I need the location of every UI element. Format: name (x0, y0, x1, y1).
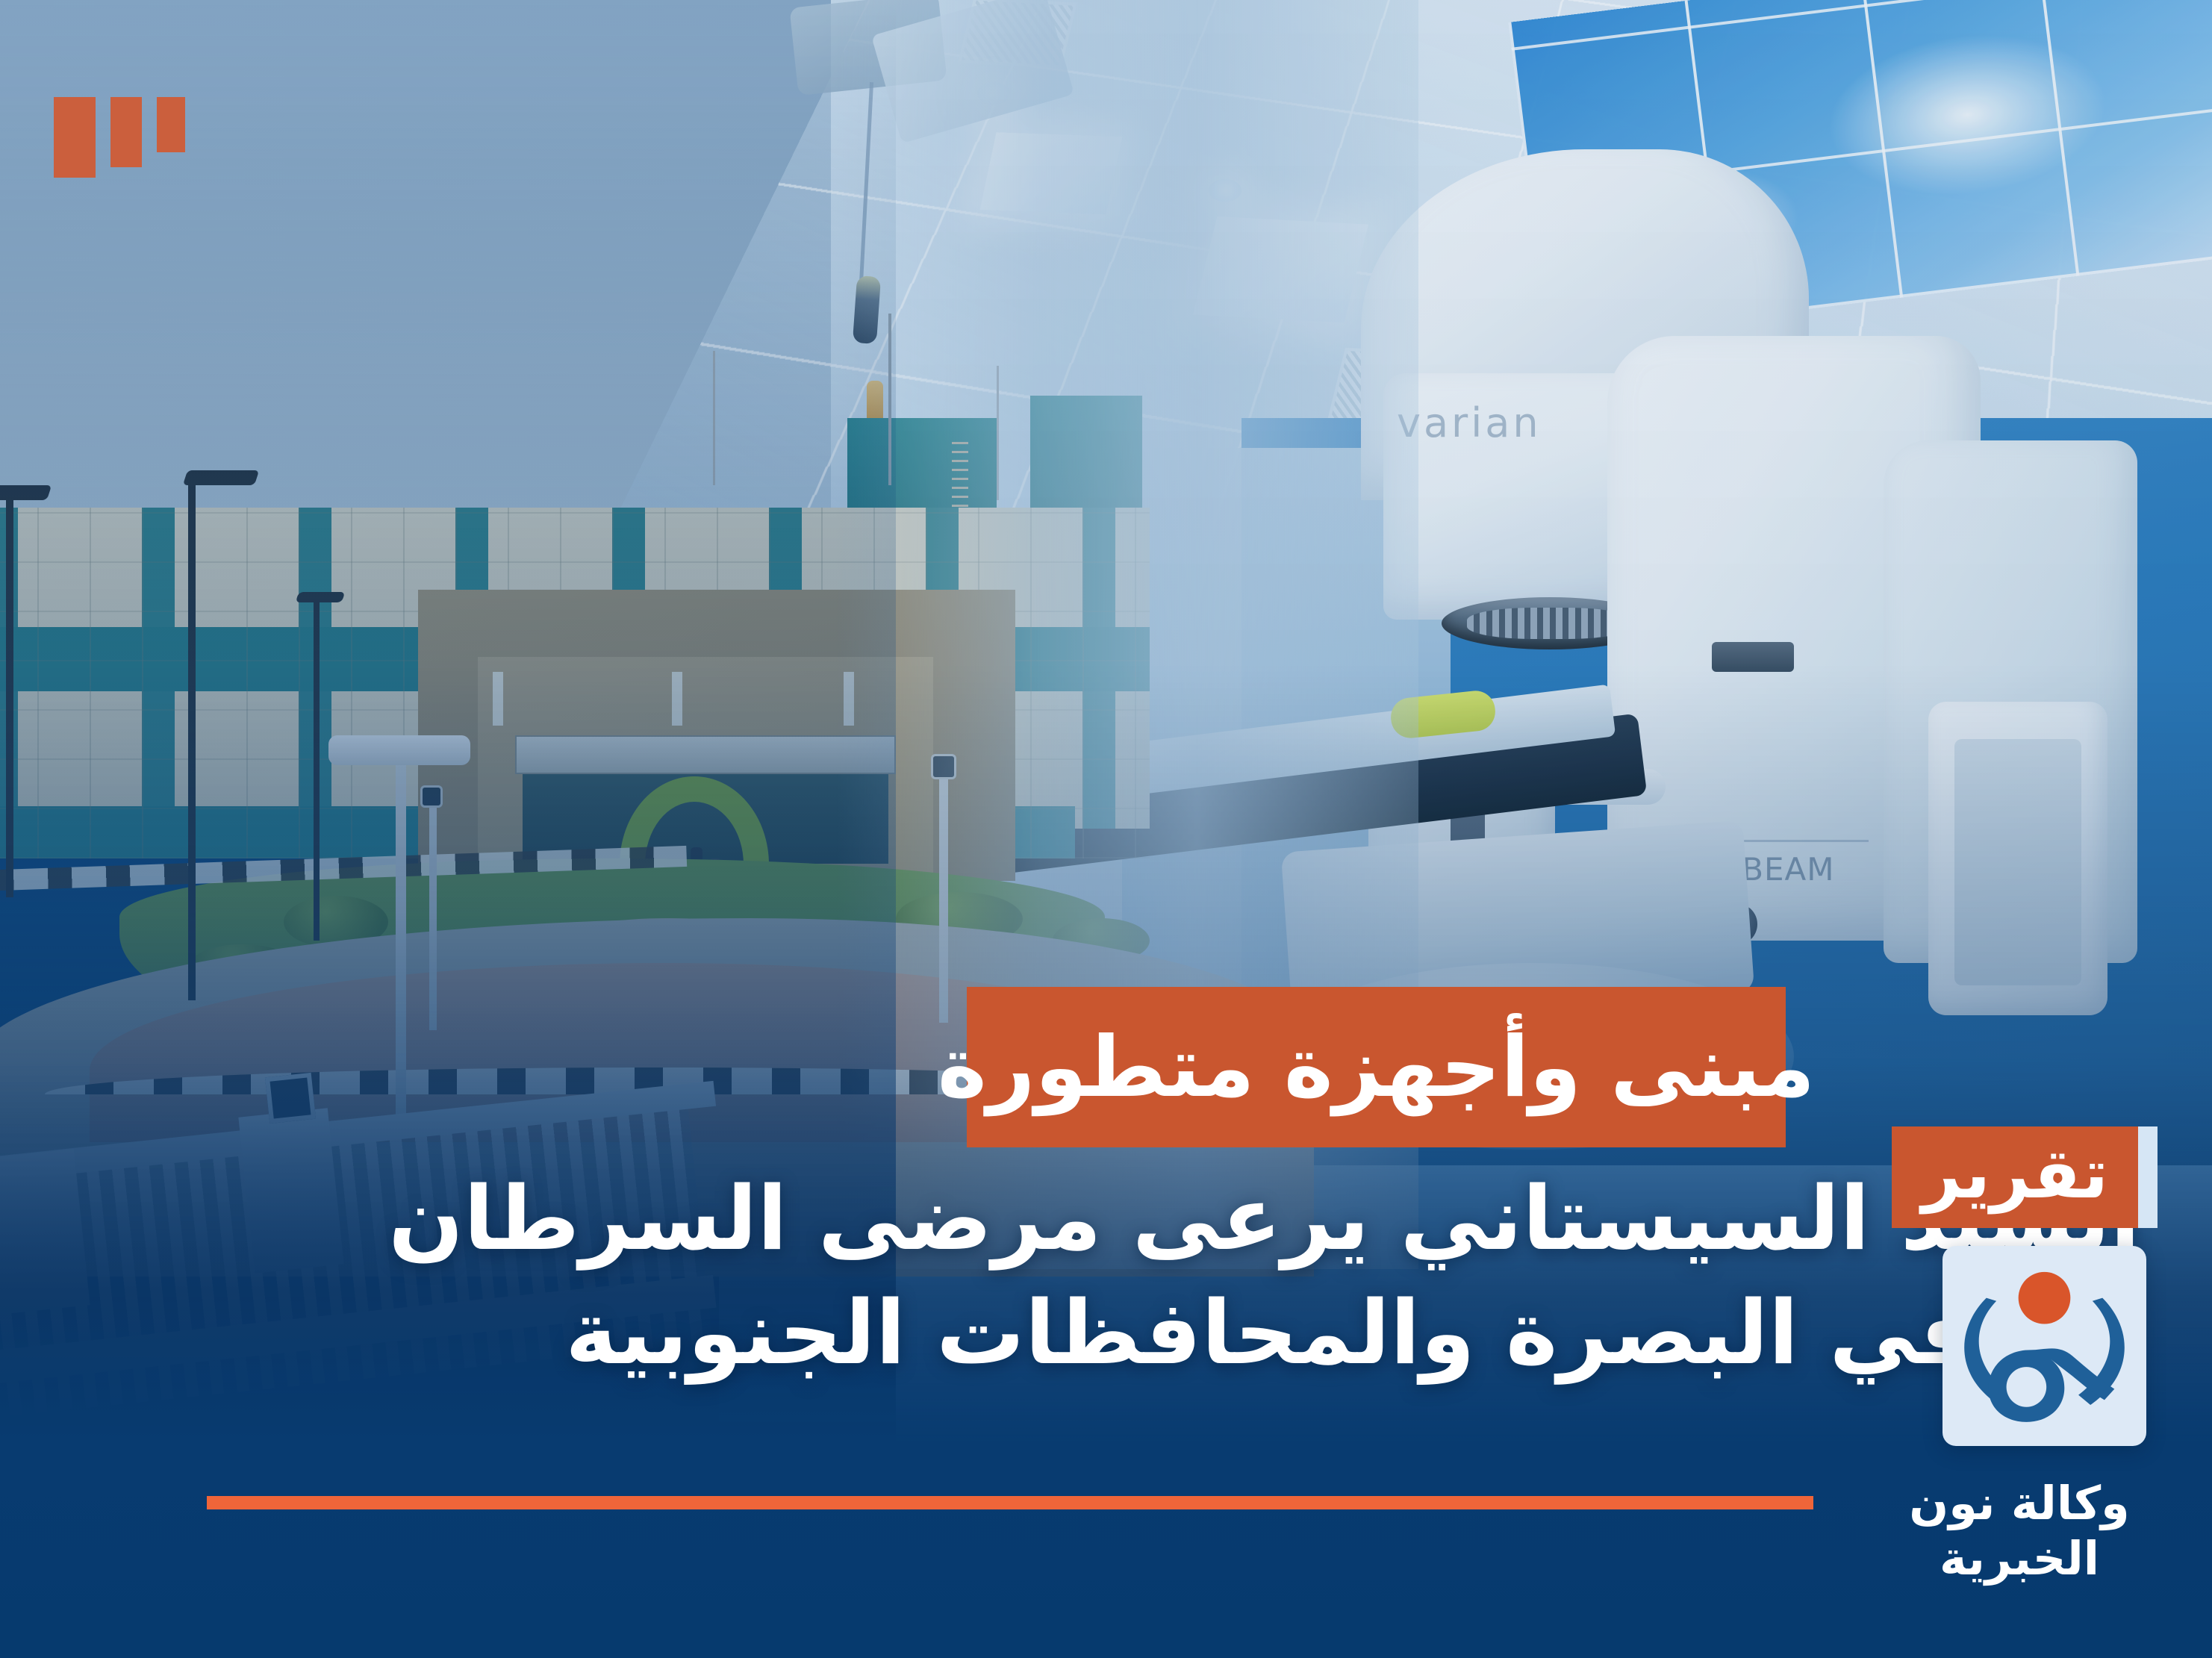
street-lamp-pole (314, 597, 320, 941)
agency-logo-tile (1942, 1246, 2146, 1446)
roof-antenna (713, 351, 715, 485)
ceiling-light-panel (1193, 216, 1368, 323)
report-badge-label: تقرير (1922, 1140, 2108, 1209)
street-lamp-head (0, 485, 52, 500)
news-report-card: varian trueBEAM (0, 0, 2212, 1658)
three-bars-logo-mark (54, 97, 185, 178)
cctv-camera-cluster (328, 735, 470, 765)
agency-name: وكالة نون الخبرية (1863, 1476, 2176, 1587)
logo-noon-counter (2007, 1367, 2047, 1407)
photo-composite: varian trueBEAM (0, 0, 2212, 1658)
street-lamp-pole (6, 494, 13, 897)
logo-bar-1 (54, 97, 96, 178)
logo-bar-2 (110, 97, 142, 167)
garden-lamp-head (420, 785, 443, 808)
entrance-pilaster (493, 672, 503, 726)
garden-lamp-head (931, 754, 956, 779)
headline: السيد السيستاني يرعى مرضى السرطان في الب… (401, 1162, 2140, 1391)
report-badge-box: تقرير (1892, 1126, 2138, 1228)
street-lamp-head (296, 592, 346, 602)
orange-divider (207, 1496, 1813, 1509)
pendant-handle (853, 275, 881, 344)
street-lamp-head (183, 470, 259, 485)
logo-head-dot (2019, 1272, 2071, 1324)
entrance-pilaster (672, 672, 682, 726)
fence-lantern (265, 1073, 316, 1123)
entrance-pilaster (844, 672, 854, 726)
fence-pillar (238, 1108, 343, 1273)
street-lamp-pole (188, 478, 196, 1000)
cctv-mast (396, 739, 406, 1127)
ceiling-downlight (1209, 179, 1241, 202)
accessory-slot (1712, 642, 1794, 672)
headline-line-1: السيد السيستاني يرعى مرضى السرطان (401, 1162, 2140, 1276)
entrance-canopy (515, 735, 896, 774)
report-badge-accent-bar (2138, 1126, 2158, 1228)
roof-antenna (888, 314, 891, 485)
kicker-banner: مبنى وأجهزة متطورة (967, 987, 1786, 1147)
ceiling-light-panel (980, 132, 1123, 214)
garden-lamp-post (939, 776, 948, 1023)
garden-lamp-post (429, 806, 437, 1030)
kicker-text: مبنى وأجهزة متطورة (938, 1026, 1816, 1109)
headline-line-2: في البصرة والمحافظات الجنوبية (401, 1276, 2140, 1390)
report-badge: تقرير (1892, 1126, 2158, 1228)
roof-antenna (997, 366, 999, 500)
panel-screen (1954, 739, 2081, 985)
machine-brand-label: varian (1397, 399, 1542, 446)
logo-bar-3 (157, 97, 185, 152)
